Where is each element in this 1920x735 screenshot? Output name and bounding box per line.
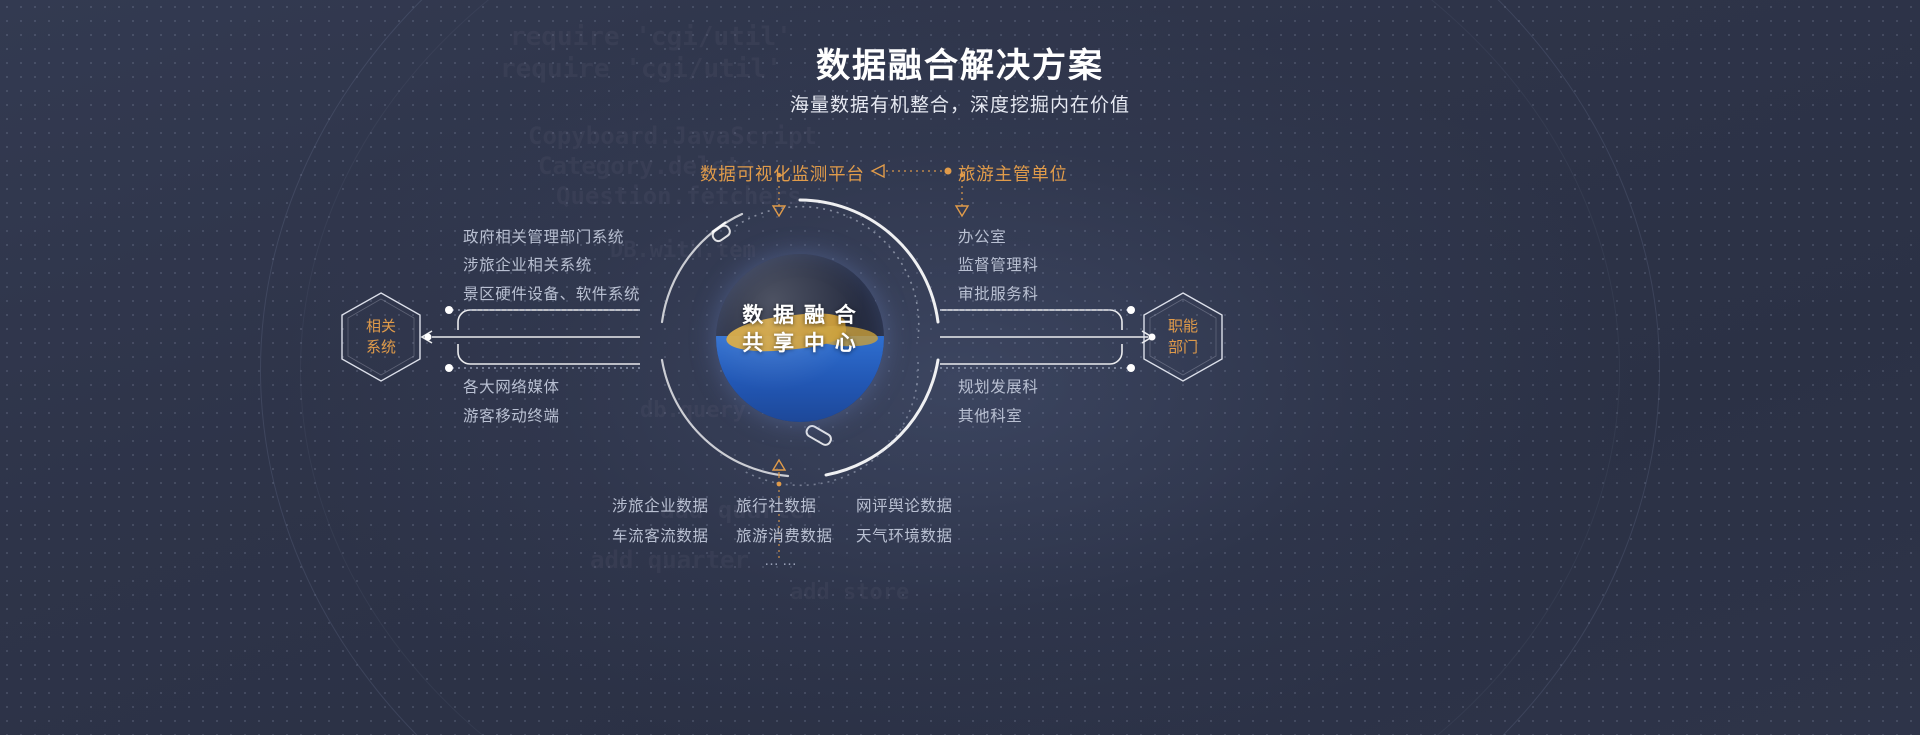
data-fusion-core: 数 据 融 合 共 享 中 心 <box>660 198 940 478</box>
hex-left-line2: 系统 <box>366 337 396 358</box>
page-title: 数据融合解决方案 <box>0 38 1920 87</box>
hex-related-systems[interactable]: 相关 系统 <box>340 291 422 383</box>
code-watermark: add quarter <box>590 546 749 574</box>
bottom-data-4: 旅游消费数据 <box>736 524 833 546</box>
right-dept-2: 审批服务科 <box>958 282 1039 304</box>
right-dept-4: 其他科室 <box>958 404 1022 426</box>
right-dept-0: 办公室 <box>958 225 1006 247</box>
right-dept-3: 规划发展科 <box>958 375 1039 397</box>
left-source-2: 景区硬件设备、软件系统 <box>463 282 640 304</box>
core-label-line2: 共 享 中 心 <box>660 330 940 358</box>
page-subtitle: 海量数据有机整合，深度挖掘内在价值 <box>0 90 1920 117</box>
code-watermark: Copyboard.JavaScript <box>528 122 817 150</box>
left-source-4: 游客移动终端 <box>463 404 560 426</box>
core-label: 数 据 融 合 共 享 中 心 <box>660 302 940 358</box>
hex-functional-departments[interactable]: 职能 部门 <box>1142 291 1224 383</box>
node-visualization-platform[interactable]: 数据可视化监测平台 <box>700 161 865 186</box>
bottom-data-1: 旅行社数据 <box>736 494 817 516</box>
core-label-line1: 数 据 融 合 <box>660 302 940 330</box>
node-tourism-authority[interactable]: 旅游主管单位 <box>958 161 1068 186</box>
code-watermark: add store <box>790 580 909 605</box>
hex-right-line1: 职能 <box>1168 316 1198 337</box>
bottom-data-5: 天气环境数据 <box>856 524 953 546</box>
left-source-0: 政府相关管理部门系统 <box>463 225 624 247</box>
bottom-data-2: 网评舆论数据 <box>856 494 953 516</box>
bottom-data-0: 涉旅企业数据 <box>612 494 709 516</box>
infographic-canvas: require 'cgi/util' require 'cgi/util' Co… <box>0 0 1920 735</box>
hex-left-line1: 相关 <box>366 316 396 337</box>
right-dept-1: 监督管理科 <box>958 253 1039 275</box>
bottom-data-3: 车流客流数据 <box>612 524 709 546</box>
bottom-data-ellipsis: …… <box>764 552 800 569</box>
left-source-3: 各大网络媒体 <box>463 375 560 397</box>
hex-right-line2: 部门 <box>1168 337 1198 358</box>
left-source-1: 涉旅企业相关系统 <box>463 253 592 275</box>
